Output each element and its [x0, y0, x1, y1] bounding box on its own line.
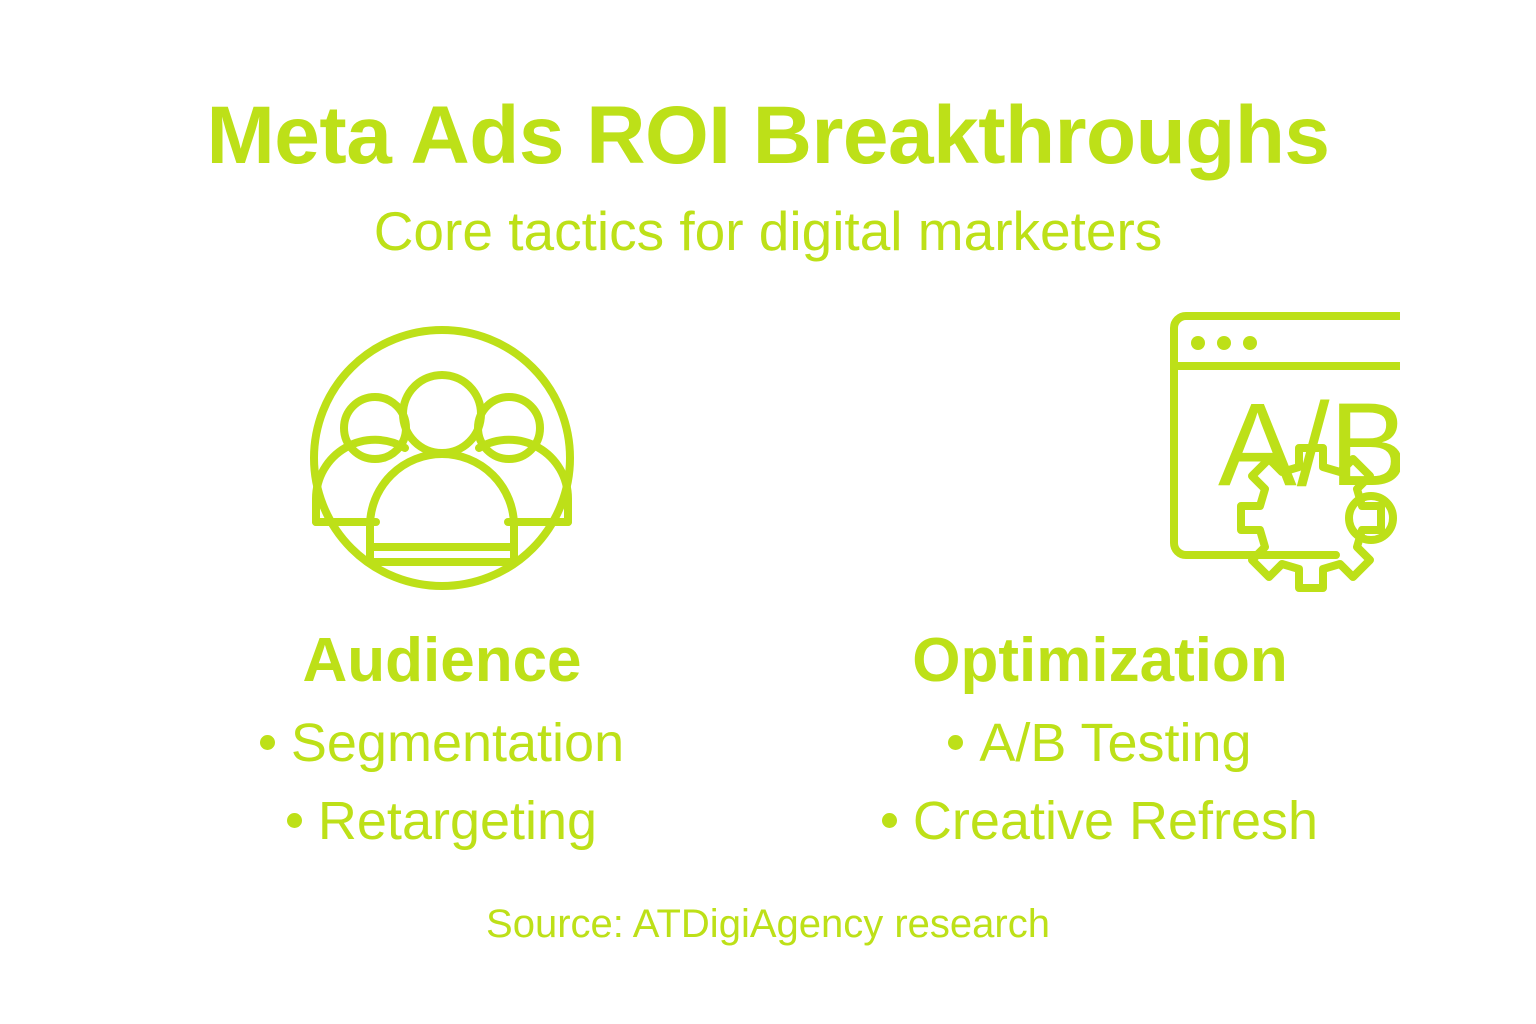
column-audience: Audience Segmentation Retargeting [142, 300, 742, 880]
page-title: Meta Ads ROI Breakthroughs [0, 88, 1536, 184]
column-optimization: A/B Optimization A/B Testing Creative Re… [800, 300, 1400, 880]
bullet-dot-icon [882, 813, 897, 828]
audience-icon-wrap [142, 300, 742, 600]
list-item: Retargeting [142, 790, 742, 868]
slide-canvas: Meta Ads ROI Breakthroughs Core tactics … [0, 0, 1536, 1024]
browser-window-ab-gear-icon: A/B [800, 300, 1400, 600]
optimization-bullet-list: A/B Testing Creative Refresh [800, 712, 1400, 868]
bullet-label: A/B Testing [979, 712, 1251, 774]
optimization-icon-wrap: A/B [800, 300, 1400, 600]
bullet-dot-icon [287, 813, 302, 828]
column-heading-audience: Audience [142, 625, 742, 697]
list-item: Creative Refresh [800, 790, 1400, 868]
bullet-label: Retargeting [318, 790, 597, 852]
bullet-label: Segmentation [291, 712, 624, 774]
group-of-people-in-circle-icon [142, 300, 742, 600]
page-subtitle: Core tactics for digital marketers [0, 198, 1536, 264]
list-item: Segmentation [142, 712, 742, 790]
bullet-dot-icon [260, 735, 275, 750]
bullet-dot-icon [948, 735, 963, 750]
window-control-dots-icon [1191, 336, 1257, 350]
column-heading-optimization: Optimization [800, 625, 1400, 697]
bullet-label: Creative Refresh [913, 790, 1318, 852]
source-note: Source: ATDigiAgency research [0, 900, 1536, 948]
audience-bullet-list: Segmentation Retargeting [142, 712, 742, 868]
list-item: A/B Testing [800, 712, 1400, 790]
